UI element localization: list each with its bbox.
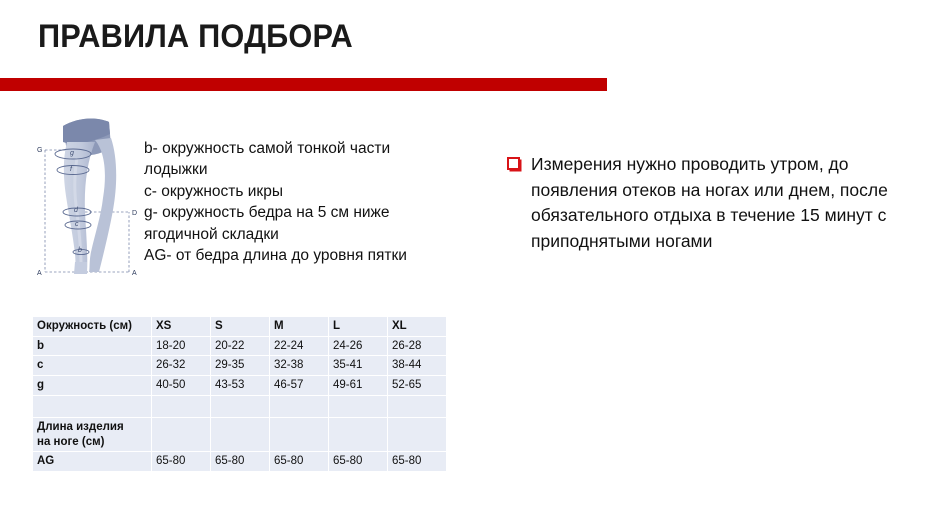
diagram-label-c: c bbox=[75, 221, 79, 228]
section-cell-m bbox=[270, 417, 329, 451]
spacer-cell-label bbox=[33, 395, 152, 417]
cell-b-s: 20-22 bbox=[211, 336, 270, 356]
legend-line-b: b- окружность самой тонкой части лодыжки bbox=[144, 138, 444, 181]
section-cell-xs bbox=[152, 417, 211, 451]
cell-ag-m: 65-80 bbox=[270, 452, 329, 472]
square-bullet-icon bbox=[507, 157, 520, 170]
legend-line-c: c- окружность икры bbox=[144, 181, 444, 202]
size-chart-table: Окружность (см) XS S M L XL b 18-20 20-2… bbox=[33, 317, 446, 472]
column-header-xl: XL bbox=[388, 317, 447, 336]
section-cell-l bbox=[329, 417, 388, 451]
cell-b-m: 22-24 bbox=[270, 336, 329, 356]
section-cell-xl bbox=[388, 417, 447, 451]
table-row: g 40-50 43-53 46-57 49-61 52-65 bbox=[33, 376, 446, 396]
column-header-measure: Окружность (см) bbox=[33, 317, 152, 336]
cell-g-xs: 40-50 bbox=[152, 376, 211, 396]
cell-b-l: 24-26 bbox=[329, 336, 388, 356]
cell-b-xs: 18-20 bbox=[152, 336, 211, 356]
diagram-label-b: b bbox=[78, 247, 82, 254]
row-label-b: b bbox=[33, 336, 152, 356]
cell-ag-s: 65-80 bbox=[211, 452, 270, 472]
cell-g-xl: 52-65 bbox=[388, 376, 447, 396]
row-label-g: g bbox=[33, 376, 152, 396]
column-header-m: M bbox=[270, 317, 329, 336]
column-header-xs: XS bbox=[152, 317, 211, 336]
measurement-advice-bullet: Измерения нужно проводить утром, до появ… bbox=[507, 152, 907, 255]
measurement-advice-text: Измерения нужно проводить утром, до появ… bbox=[531, 152, 907, 255]
cell-c-l: 35-41 bbox=[329, 356, 388, 376]
column-header-l: L bbox=[329, 317, 388, 336]
cell-ag-l: 65-80 bbox=[329, 452, 388, 472]
section-cell-s bbox=[211, 417, 270, 451]
spacer-cell-s bbox=[211, 395, 270, 417]
page-title: ПРАВИЛА ПОДБОРА bbox=[38, 18, 353, 55]
cell-ag-xl: 65-80 bbox=[388, 452, 447, 472]
legend-line-g: g- окружность бедра на 5 см ниже ягодичн… bbox=[144, 202, 444, 245]
table-spacer-row bbox=[33, 395, 446, 417]
diagram-label-g: g bbox=[70, 150, 74, 157]
table-row: c 26-32 29-35 32-38 35-41 38-44 bbox=[33, 356, 446, 376]
spacer-cell-m bbox=[270, 395, 329, 417]
cell-c-xs: 26-32 bbox=[152, 356, 211, 376]
cell-c-xl: 38-44 bbox=[388, 356, 447, 376]
cell-b-xl: 26-28 bbox=[388, 336, 447, 356]
diagram-label-D: D bbox=[132, 210, 137, 217]
leg-measurement-diagram: g f d c b G D A A bbox=[33, 112, 148, 292]
measurement-legend: b- окружность самой тонкой части лодыжки… bbox=[144, 138, 444, 266]
title-accent-rule bbox=[0, 78, 607, 91]
column-header-s: S bbox=[211, 317, 270, 336]
spacer-cell-xs bbox=[152, 395, 211, 417]
row-label-product-length: Длина изделия на ноге (см) bbox=[33, 417, 152, 451]
legend-line-ag: AG- от бедра длина до уровня пятки bbox=[144, 245, 444, 266]
cell-c-s: 29-35 bbox=[211, 356, 270, 376]
cell-ag-xs: 65-80 bbox=[152, 452, 211, 472]
diagram-label-A-left: A bbox=[37, 270, 42, 277]
spacer-cell-xl bbox=[388, 395, 447, 417]
table-row: AG 65-80 65-80 65-80 65-80 65-80 bbox=[33, 452, 446, 472]
row-label-c: c bbox=[33, 356, 152, 376]
table-row: b 18-20 20-22 22-24 24-26 26-28 bbox=[33, 336, 446, 356]
diagram-label-G: G bbox=[37, 147, 42, 154]
cell-c-m: 32-38 bbox=[270, 356, 329, 376]
row-label-ag: AG bbox=[33, 452, 152, 472]
spacer-cell-l bbox=[329, 395, 388, 417]
table-header-row: Окружность (см) XS S M L XL bbox=[33, 317, 446, 336]
cell-g-s: 43-53 bbox=[211, 376, 270, 396]
diagram-label-A-right: A bbox=[132, 270, 137, 277]
cell-g-l: 49-61 bbox=[329, 376, 388, 396]
cell-g-m: 46-57 bbox=[270, 376, 329, 396]
table-section-row: Длина изделия на ноге (см) bbox=[33, 417, 446, 451]
